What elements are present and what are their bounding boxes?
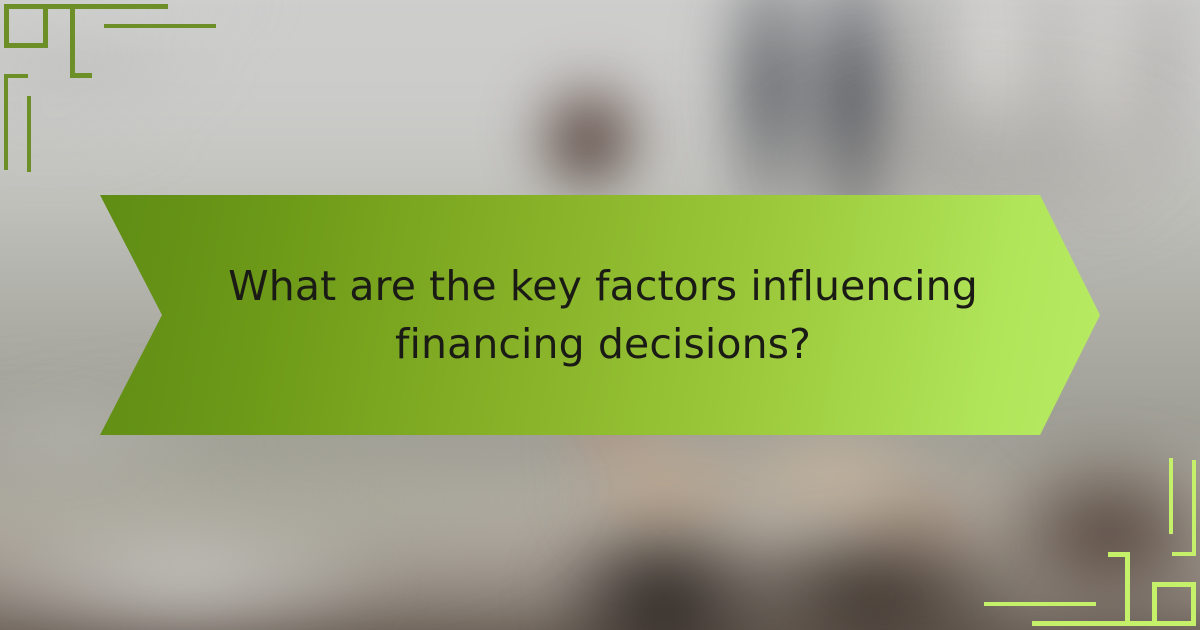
headline-text: What are the key factors influencing fin… [203, 257, 1003, 373]
corner-tl-line-v1 [70, 4, 75, 78]
corner-bracket-top-left-icon [0, 0, 180, 180]
corner-br-line-h2 [1108, 552, 1130, 557]
corner-tl-line-v3 [27, 96, 31, 172]
corner-br-line-h3 [984, 602, 1096, 606]
social-card-canvas: What are the key factors influencing fin… [0, 0, 1200, 630]
corner-tl-line-h2 [70, 73, 92, 78]
corner-tl-line-h3 [104, 24, 216, 28]
corner-tl-line-h1 [44, 4, 168, 9]
corner-br-line-h4 [1172, 552, 1196, 556]
corner-br-line-v1 [1125, 552, 1130, 626]
corner-tl-line-h4 [4, 74, 28, 78]
corner-br-line-v2 [1192, 460, 1196, 556]
corner-br-line-v3 [1169, 458, 1173, 534]
corner-br-line-h1 [1032, 621, 1156, 626]
headline-banner: What are the key factors influencing fin… [100, 195, 1100, 435]
corner-tl-line-v2 [4, 74, 8, 170]
corner-bracket-bottom-right-icon [1020, 450, 1200, 630]
corner-tl-square [4, 4, 48, 48]
corner-br-square [1152, 582, 1196, 626]
